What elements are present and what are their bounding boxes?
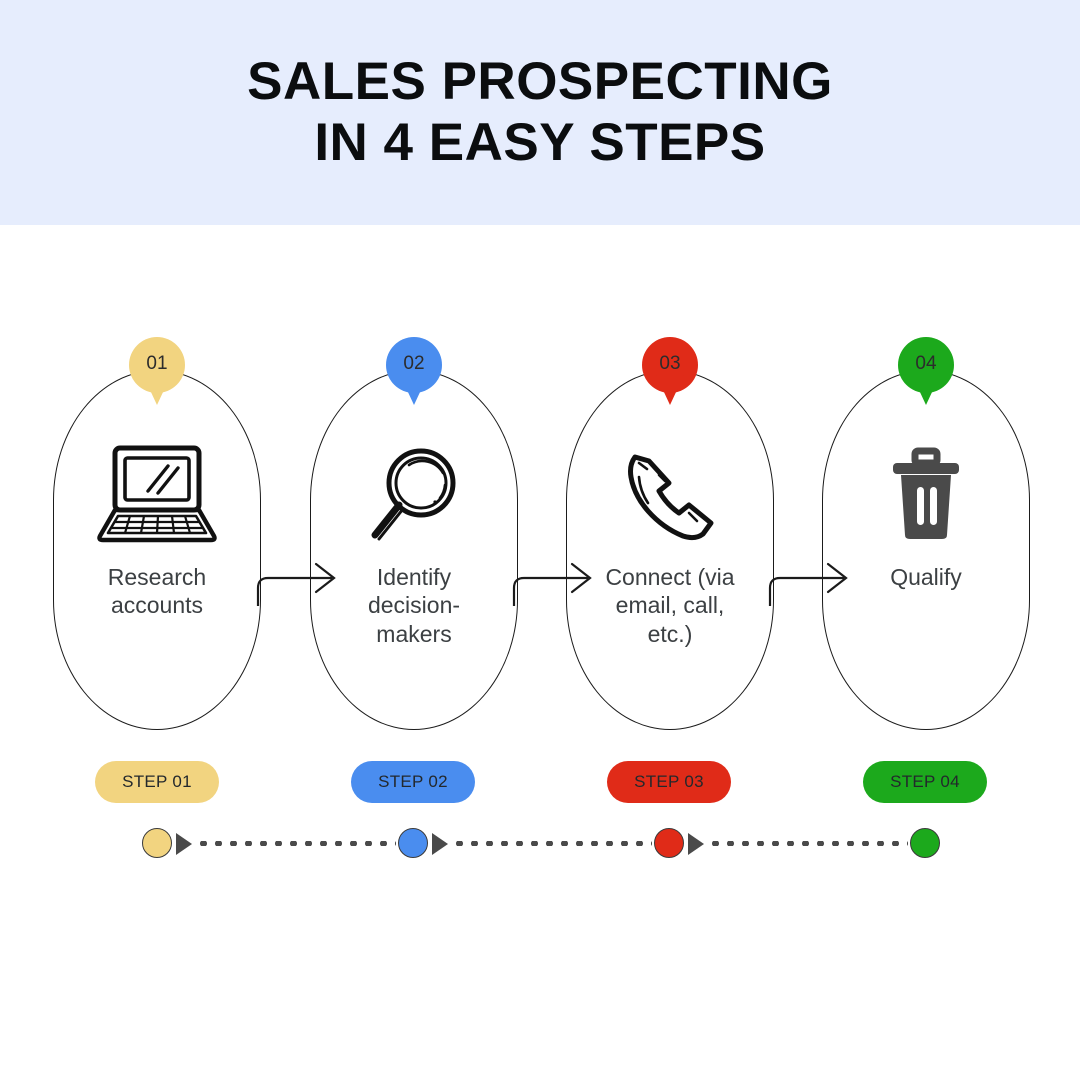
step-badge-4[interactable]: STEP 04 bbox=[863, 761, 987, 803]
step-pin-2-tail bbox=[400, 375, 428, 405]
step-card-3-label: Connect (via email, call, etc.) bbox=[582, 563, 758, 648]
step-card-1-content: Research accounts bbox=[54, 371, 260, 729]
timeline-dotline-1 bbox=[196, 841, 396, 846]
arrow-step1-to-step2 bbox=[248, 550, 344, 610]
step-badge-4-label: STEP 04 bbox=[890, 772, 960, 792]
magnifier-icon bbox=[359, 443, 469, 547]
page-title: SALES PROSPECTING IN 4 EASY STEPS bbox=[247, 52, 833, 174]
timeline-arrow-1 bbox=[176, 833, 192, 855]
steps-stage: Research accounts 01 Identify decision- … bbox=[0, 225, 1080, 1080]
step-pin-4: 04 bbox=[898, 337, 954, 393]
timeline-dot-1[interactable] bbox=[142, 828, 172, 858]
timeline-dot-4[interactable] bbox=[910, 828, 940, 858]
step-badge-3-label: STEP 03 bbox=[634, 772, 704, 792]
header-band: SALES PROSPECTING IN 4 EASY STEPS bbox=[0, 0, 1080, 225]
step-badge-2[interactable]: STEP 02 bbox=[351, 761, 475, 803]
step-pin-1: 01 bbox=[129, 337, 185, 393]
progress-timeline bbox=[0, 817, 1080, 877]
arrow-step3-to-step4 bbox=[760, 550, 856, 610]
step-card-2-label: Identify decision- makers bbox=[326, 563, 502, 648]
step-card-4-label: Qualify bbox=[838, 563, 1014, 591]
phone-handset-icon bbox=[615, 443, 725, 547]
timeline-arrow-2 bbox=[432, 833, 448, 855]
step-badge-1-label: STEP 01 bbox=[122, 772, 192, 792]
step-pin-4-tail bbox=[912, 375, 940, 405]
step-pin-4-number: 04 bbox=[915, 354, 936, 373]
timeline-dotline-2 bbox=[452, 841, 652, 846]
step-pin-2-number: 02 bbox=[403, 354, 424, 373]
step-pin-3: 03 bbox=[642, 337, 698, 393]
step-pin-2: 02 bbox=[386, 337, 442, 393]
timeline-dot-2[interactable] bbox=[398, 828, 428, 858]
arrow-step2-to-step3 bbox=[504, 550, 600, 610]
step-card-1-label: Research accounts bbox=[69, 563, 245, 620]
step-card-1[interactable]: Research accounts bbox=[53, 370, 261, 730]
trash-can-icon bbox=[881, 443, 971, 547]
step-badge-3[interactable]: STEP 03 bbox=[607, 761, 731, 803]
step-pin-1-tail bbox=[143, 375, 171, 405]
step-pin-3-tail bbox=[656, 375, 684, 405]
timeline-arrow-3 bbox=[688, 833, 704, 855]
step-badge-2-label: STEP 02 bbox=[378, 772, 448, 792]
timeline-dotline-3 bbox=[708, 841, 908, 846]
step-badge-1[interactable]: STEP 01 bbox=[95, 761, 219, 803]
laptop-icon bbox=[88, 443, 226, 547]
timeline-dot-3[interactable] bbox=[654, 828, 684, 858]
step-pin-1-number: 01 bbox=[146, 354, 167, 373]
step-pin-3-number: 03 bbox=[659, 354, 680, 373]
